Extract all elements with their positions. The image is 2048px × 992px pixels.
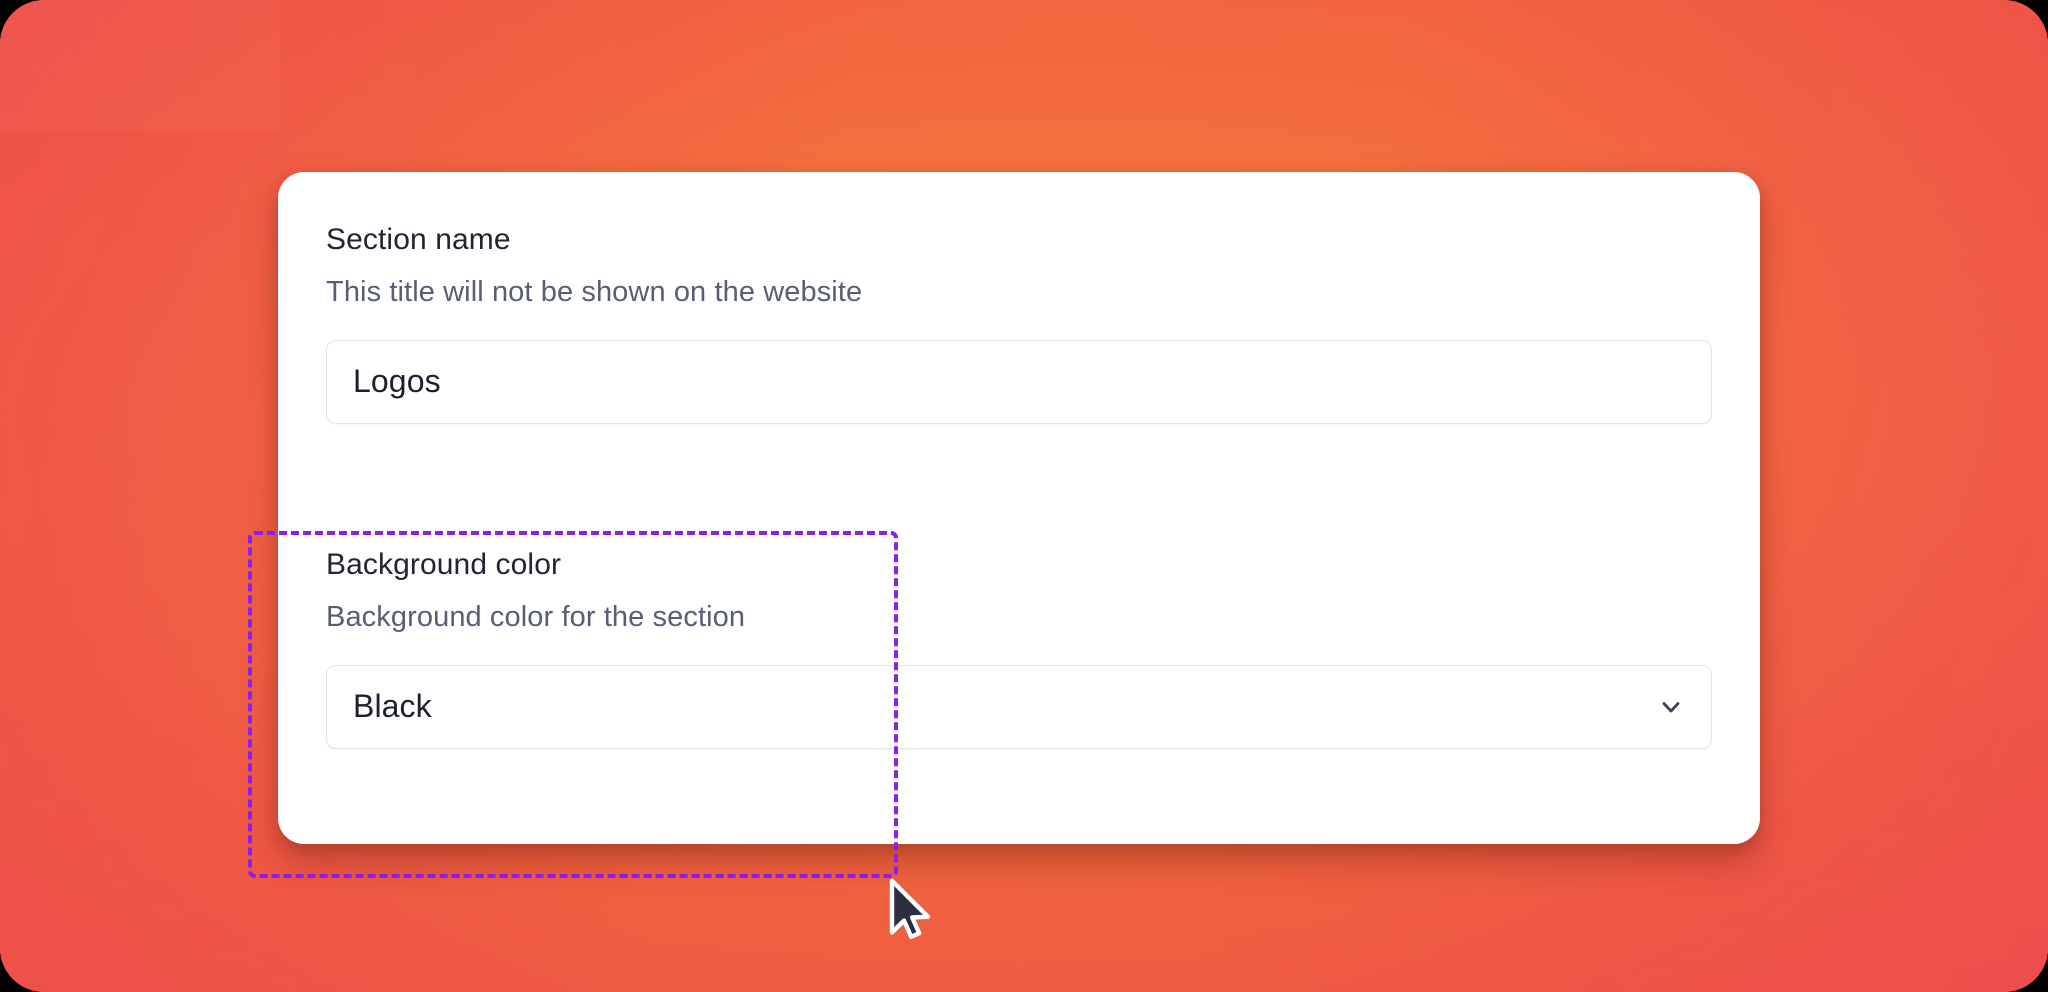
section-name-description: This title will not be shown on the webs… [326,275,1712,310]
background-color-label: Background color [326,547,1712,583]
background-color-select[interactable]: Black [326,665,1712,749]
section-name-input[interactable]: Logos [326,340,1712,424]
background-color-selected-value: Black [327,688,432,725]
settings-card: Section name This title will not be show… [278,172,1760,844]
background-color-field-group: Background color Background color for th… [278,547,1760,749]
chevron-down-icon[interactable] [1657,693,1685,721]
section-name-field-group: Section name This title will not be show… [278,222,1760,424]
page-backdrop: Section name This title will not be show… [0,0,2048,992]
section-name-label: Section name [326,222,1712,258]
background-color-description: Background color for the section [326,600,1712,635]
section-name-input-value: Logos [327,363,441,400]
